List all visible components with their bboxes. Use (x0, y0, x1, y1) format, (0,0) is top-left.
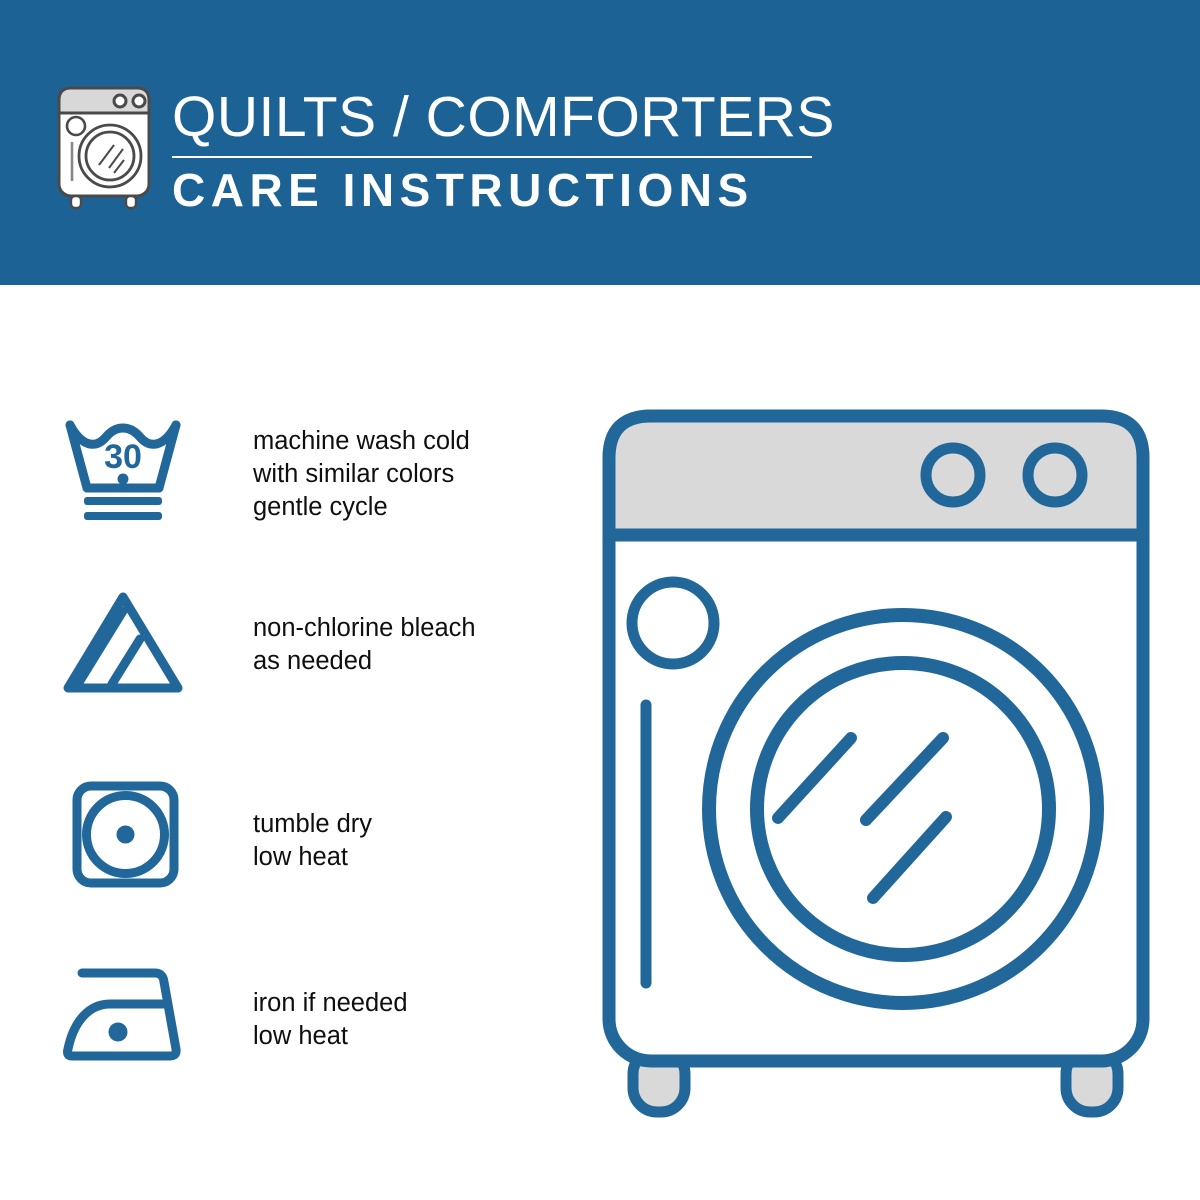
care-instruction-list: 30 machine wash cold with similar colors… (0, 285, 560, 1200)
care-row-label: non-chlorine bleach as needed (253, 587, 476, 678)
front-load-washing-machine-illustration (598, 405, 1154, 1120)
care-row: tumble dry low heat (60, 780, 540, 895)
care-row: 30 machine wash cold with similar colors… (60, 413, 540, 528)
machine-dial (632, 582, 714, 664)
header-title-block: QUILTS / COMFORTERS CARE INSTRUCTIONS (172, 86, 822, 216)
wash-temperature-value: 30 (104, 438, 142, 476)
care-row: non-chlorine bleach as needed (60, 587, 540, 702)
care-instructions-page: QUILTS / COMFORTERS CARE INSTRUCTIONS 30 (0, 0, 1200, 1200)
non-chlorine-bleach-triangle-icon (60, 587, 190, 702)
washing-machine-icon (52, 80, 156, 212)
care-row: iron if needed low heat (60, 957, 540, 1072)
care-row-label: machine wash cold with similar colors ge… (253, 413, 470, 524)
machine-knob-2 (1028, 448, 1082, 502)
page-title: QUILTS / COMFORTERS (172, 86, 822, 148)
header-banner: QUILTS / COMFORTERS CARE INSTRUCTIONS (0, 0, 1200, 285)
page-subtitle: CARE INSTRUCTIONS (172, 164, 822, 216)
title-divider (172, 156, 812, 158)
care-row-label: tumble dry low heat (253, 780, 372, 874)
machine-knob-1 (926, 448, 980, 502)
wash-tub-30-gentle-icon: 30 (60, 413, 190, 528)
care-row-label: iron if needed low heat (253, 957, 408, 1053)
tumble-dry-low-icon (60, 780, 190, 895)
iron-low-heat-icon (60, 957, 190, 1072)
